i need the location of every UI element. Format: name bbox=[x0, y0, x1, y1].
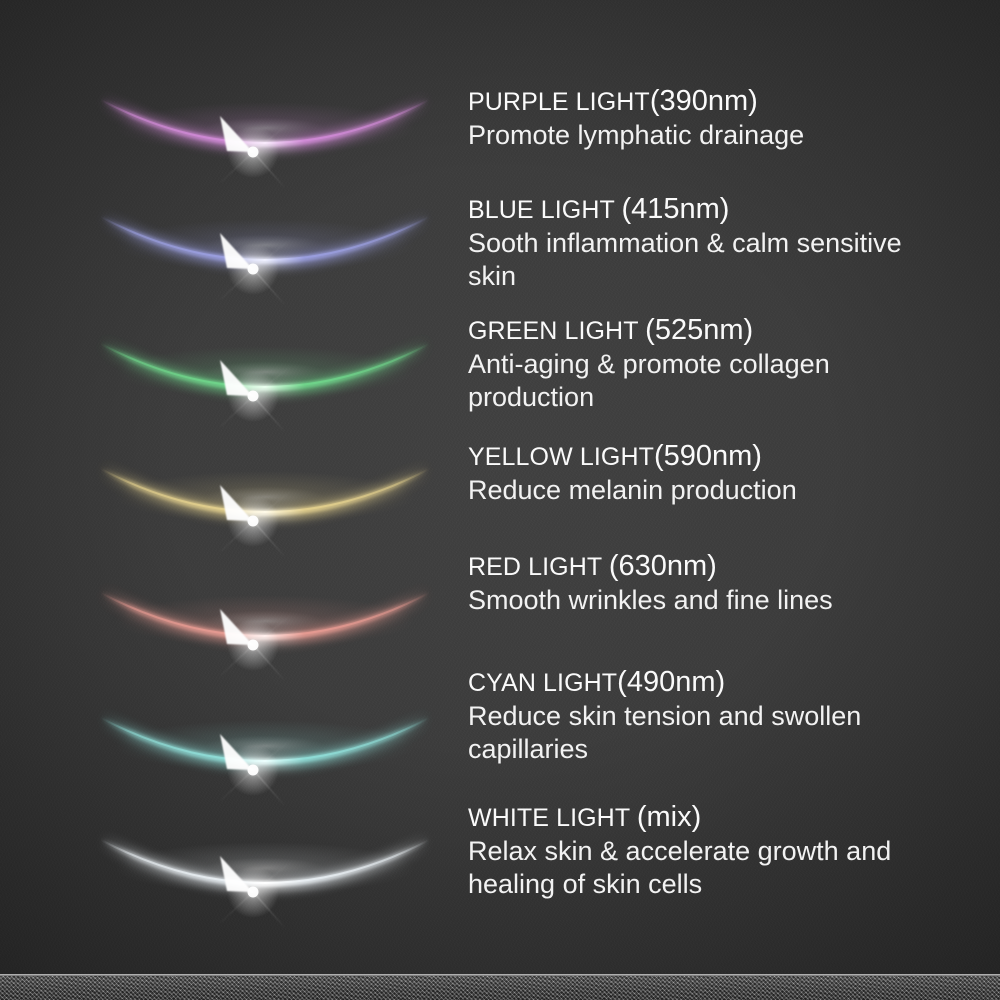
light-description-blue: Sooth inflammation & calm sensitive skin bbox=[468, 227, 938, 293]
light-name-blue: BLUE LIGHT bbox=[468, 196, 621, 224]
light-streak-purple bbox=[95, 82, 435, 192]
light-name-white: WHITE LIGHT bbox=[468, 804, 637, 832]
light-heading-yellow: YELLOW LIGHT(590nm) bbox=[468, 441, 988, 473]
light-heading-red: RED LIGHT (630nm) bbox=[468, 551, 988, 583]
light-description-yellow: Reduce melanin production bbox=[468, 474, 938, 507]
light-streak-blue bbox=[95, 199, 435, 309]
light-name-yellow: YELLOW LIGHT bbox=[468, 443, 654, 471]
light-streak-green bbox=[95, 326, 435, 436]
light-wavelength-green: (525nm) bbox=[645, 314, 753, 346]
light-heading-cyan: CYAN LIGHT(490nm) bbox=[468, 667, 988, 699]
light-heading-green: GREEN LIGHT (525nm) bbox=[468, 315, 988, 347]
sparkle-star-red bbox=[205, 597, 301, 693]
light-streak-red bbox=[95, 575, 435, 685]
light-description-cyan: Reduce skin tension and swollen capillar… bbox=[468, 700, 938, 766]
light-text-block-blue: BLUE LIGHT (415nm)Sooth inflammation & c… bbox=[468, 194, 988, 293]
light-heading-white: WHITE LIGHT (mix) bbox=[468, 802, 988, 834]
light-name-red: RED LIGHT bbox=[468, 553, 609, 581]
light-text-block-yellow: YELLOW LIGHT(590nm)Reduce melanin produc… bbox=[468, 441, 988, 507]
sparkle-star-white bbox=[205, 844, 301, 940]
light-heading-blue: BLUE LIGHT (415nm) bbox=[468, 194, 988, 226]
light-name-green: GREEN LIGHT bbox=[468, 317, 645, 345]
light-wavelength-blue: (415nm) bbox=[621, 193, 729, 225]
light-streak-cyan bbox=[95, 700, 435, 810]
light-text-block-purple: PURPLE LIGHT(390nm)Promote lymphatic dra… bbox=[468, 86, 988, 152]
light-description-purple: Promote lymphatic drainage bbox=[468, 119, 938, 152]
light-wavelength-red: (630nm) bbox=[609, 550, 717, 582]
light-description-red: Smooth wrinkles and fine lines bbox=[468, 584, 938, 617]
sparkle-star-cyan bbox=[205, 722, 301, 818]
light-wavelength-white: (mix) bbox=[637, 801, 701, 833]
sparkle-star-purple bbox=[205, 104, 301, 200]
light-description-green: Anti-aging & promote collagen production bbox=[468, 348, 938, 414]
sparkle-star-blue bbox=[205, 221, 301, 317]
light-wavelength-purple: (390nm) bbox=[650, 85, 758, 117]
floor-strip bbox=[0, 974, 1000, 1000]
light-therapy-chart: PURPLE LIGHT(390nm)Promote lymphatic dra… bbox=[0, 0, 1000, 1000]
light-streak-yellow bbox=[95, 451, 435, 561]
sparkle-star-yellow bbox=[205, 473, 301, 569]
light-text-block-cyan: CYAN LIGHT(490nm)Reduce skin tension and… bbox=[468, 667, 988, 766]
light-text-block-red: RED LIGHT (630nm)Smooth wrinkles and fin… bbox=[468, 551, 988, 617]
sparkle-star-green bbox=[205, 348, 301, 444]
light-name-purple: PURPLE LIGHT bbox=[468, 88, 650, 116]
light-streak-white bbox=[95, 822, 435, 932]
light-heading-purple: PURPLE LIGHT(390nm) bbox=[468, 86, 988, 118]
light-wavelength-cyan: (490nm) bbox=[617, 666, 725, 698]
light-text-block-white: WHITE LIGHT (mix)Relax skin & accelerate… bbox=[468, 802, 988, 901]
light-text-block-green: GREEN LIGHT (525nm)Anti-aging & promote … bbox=[468, 315, 988, 414]
light-wavelength-yellow: (590nm) bbox=[654, 440, 762, 472]
light-row-list: PURPLE LIGHT(390nm)Promote lymphatic dra… bbox=[0, 0, 1000, 1000]
light-name-cyan: CYAN LIGHT bbox=[468, 669, 617, 697]
light-description-white: Relax skin & accelerate growth and heali… bbox=[468, 835, 938, 901]
floor-carpet-texture bbox=[0, 976, 1000, 1000]
